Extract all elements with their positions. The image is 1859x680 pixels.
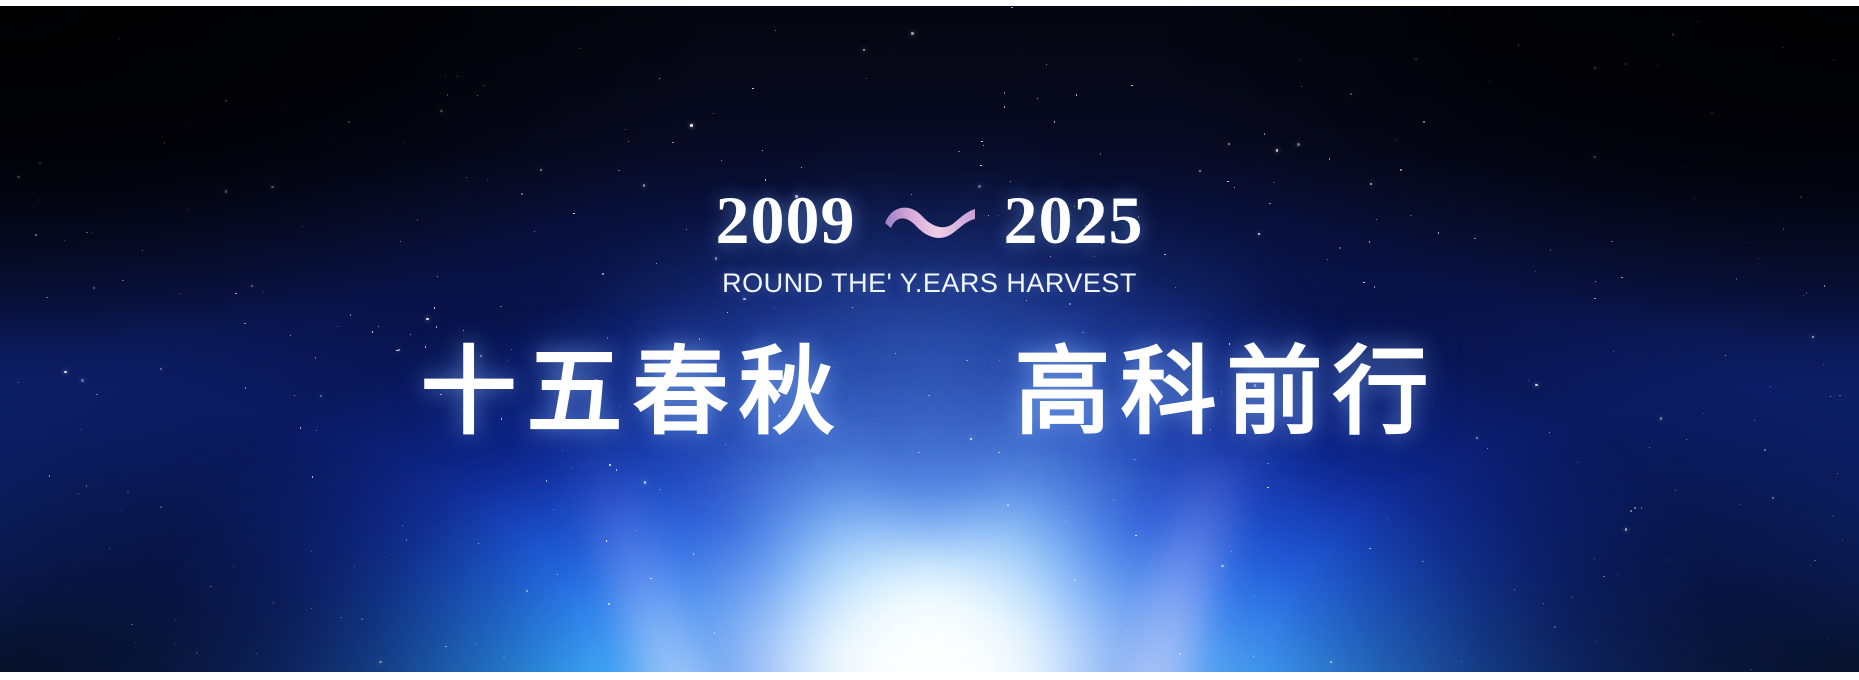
slogan-row: 十五春秋 高科前行 (0, 336, 1859, 449)
wave-tilde-icon (882, 197, 978, 243)
top-trim-strip (0, 0, 1859, 6)
bottom-trim-strip (0, 672, 1859, 680)
anniversary-banner: 2009 2025 ROUND THE' Y.EARS HARVEST 十五春秋… (0, 0, 1859, 680)
start-year: 2009 (716, 186, 856, 254)
subtitle-text: ROUND THE' Y.EARS HARVEST (0, 268, 1859, 299)
slogan-left: 十五春秋 (421, 336, 845, 449)
end-year: 2025 (1004, 186, 1144, 254)
year-range: 2009 2025 (0, 186, 1859, 254)
slogan-right: 高科前行 (1015, 336, 1439, 449)
banner-content: 2009 2025 ROUND THE' Y.EARS HARVEST 十五春秋… (0, 0, 1859, 680)
